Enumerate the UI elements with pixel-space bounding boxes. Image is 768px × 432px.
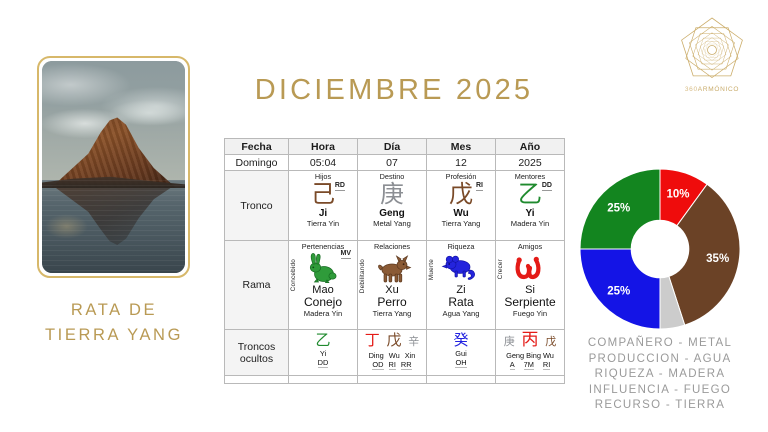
hidden-code: RI [389, 360, 396, 370]
photo-highlight [45, 214, 88, 239]
rama-cell-dia: Relaciones Debilitando [358, 241, 427, 330]
hidden-glyph: 乙 [315, 331, 330, 349]
logo-wordmark: 360ARMÓNICO [668, 86, 756, 93]
row-label-line2: ocultos [225, 353, 288, 365]
tronco-cell-dia: Destino 庚 Geng Metal Yang [358, 171, 427, 241]
rama-relation: Amigos [496, 243, 564, 251]
tronco-glyph: 乙 [518, 180, 542, 208]
tronco-element: Metal Yang [358, 219, 426, 228]
mountain-reflection-photo [42, 61, 185, 273]
rama-name-es: Rata [427, 296, 495, 309]
brand-logo: 360ARMÓNICO [668, 12, 756, 104]
col-header-hora: Hora [289, 139, 358, 155]
hidden-name: Wu [543, 351, 554, 360]
tronco-sup-code: DD [542, 182, 552, 191]
hidden-code: OH [455, 358, 466, 368]
troncos-ocultos-row: Troncos ocultos 乙 Yi DD [225, 330, 565, 376]
hidden-glyph: 庚 [504, 335, 515, 348]
hidden-stem-names: Gui [427, 349, 495, 358]
rama-element: Madera Yin [289, 309, 357, 318]
hidden-code: RR [401, 360, 412, 370]
row-label-troncos-ocultos: Troncos ocultos [225, 330, 289, 376]
rama-cell-ano: Amigos Crecer Si Serpiente [496, 241, 565, 330]
tronco-row: Tronco Hijos 己 RD Ji Tierra Yin Destino … [225, 171, 565, 241]
hidden-stem-glyphs: 丁 戊 辛 [358, 331, 426, 351]
hidden-name: Bing [526, 351, 541, 360]
hidden-code: RI [543, 360, 550, 370]
value-fecha: Domingo [225, 155, 289, 171]
rama-cell-hora: Pertenencias MV Concebido [289, 241, 358, 330]
legend-line: COMPAÑERO - METAL [556, 336, 764, 352]
tronco-cell-mes: Profesión 戊 RI Wu Tierra Yang [427, 171, 496, 241]
legend-line: RIQUEZA - MADERA [556, 367, 764, 383]
photo-caption-line2: TIERRA YANG [10, 323, 218, 348]
partial-cell [496, 376, 565, 384]
hidden-stem-names: Ding Wu Xin [358, 351, 426, 360]
legend-line: PRODUCCION - AGUA [556, 352, 764, 368]
page-title: DICIEMBRE 2025 [222, 74, 566, 107]
bazi-chart-table: Fecha Hora Día Mes Año Domingo 05:04 07 … [224, 138, 565, 384]
rama-element: Tierra Yang [358, 309, 426, 318]
hidden-stem-glyphs: 乙 [289, 331, 357, 349]
donut-label-tierra: 35% [706, 253, 729, 265]
table-header-row: Fecha Hora Día Mes Año [225, 139, 565, 155]
rama-relation: Riqueza [427, 243, 495, 251]
photo-frame [37, 56, 190, 278]
value-mes: 12 [427, 155, 496, 171]
hidden-glyph: 丙 [522, 330, 539, 350]
tronco-element: Tierra Yin [289, 219, 357, 228]
donut-label-agua: 25% [607, 285, 630, 297]
row-label-rama: Rama [225, 241, 289, 330]
row-label-tronco: Tronco [225, 171, 289, 241]
tronco-sup-code: RD [335, 182, 345, 191]
hidden-stem-glyphs: 癸 [427, 331, 495, 349]
col-header-dia: Día [358, 139, 427, 155]
logo-wordmark-prefix: 360 [685, 86, 698, 93]
tronco-pinyin: Yi [496, 208, 564, 219]
rama-name-es: Serpiente [496, 296, 564, 309]
col-header-fecha: Fecha [225, 139, 289, 155]
donut-label-fuego: 10% [667, 188, 690, 200]
hidden-name: Ding [369, 351, 384, 360]
dog-icon [358, 251, 426, 284]
hidden-code: 7M [524, 360, 534, 370]
hidden-code: OD [372, 360, 383, 370]
logo-wordmark-suffix: ARMÓNICO [698, 86, 739, 93]
rama-name-es: Conejo [289, 296, 357, 309]
hidden-stem-names: Geng Bing Wu [496, 351, 564, 360]
tronco-glyph: 己 [311, 180, 335, 208]
hidden-stem-codes: A 7M RI [496, 360, 564, 370]
hidden-glyph: 癸 [453, 331, 468, 349]
legend-line: INFLUENCIA - FUEGO [556, 383, 764, 399]
table-partial-row [225, 376, 565, 384]
hidden-glyph: 戊 [387, 331, 402, 349]
mandala-icon [668, 12, 756, 88]
tronco-element: Tierra Yang [427, 219, 495, 228]
hidden-stem-codes: OD RI RR [358, 360, 426, 370]
partial-cell [358, 376, 427, 384]
photo-caption-line1: RATA DE [10, 298, 218, 323]
elements-legend: COMPAÑERO - METAL PRODUCCION - AGUA RIQU… [556, 336, 764, 414]
legend-line: RECURSO - TIERRA [556, 398, 764, 414]
rat-icon [427, 251, 495, 284]
tronco-pinyin: Ji [289, 208, 357, 219]
rama-element: Fuego Yin [496, 309, 564, 318]
ocultos-cell-dia: 丁 戊 辛 Ding Wu Xin OD RI RR [358, 330, 427, 376]
donut-svg: 10%35%25%25% [576, 165, 744, 333]
hidden-glyph: 戊 [545, 335, 556, 348]
tronco-cell-ano: Mentores 乙 DD Yi Madera Yin [496, 171, 565, 241]
tronco-sup-code: RI [476, 182, 483, 191]
hidden-code: DD [318, 358, 329, 368]
ocultos-cell-ano: 庚 丙 戊 Geng Bing Wu A 7M RI [496, 330, 565, 376]
elements-donut-chart: 10%35%25%25% [576, 165, 744, 333]
hidden-glyph: 辛 [408, 335, 419, 348]
hidden-name: Gui [455, 349, 467, 358]
date-row: Domingo 05:04 07 12 2025 [225, 155, 565, 171]
hidden-name: Xin [405, 351, 416, 360]
value-dia: 07 [358, 155, 427, 171]
row-label-line1: Troncos [225, 341, 288, 353]
ocultos-cell-mes: 癸 Gui OH [427, 330, 496, 376]
tronco-glyph: 戊 [449, 180, 473, 208]
hidden-stem-glyphs: 庚 丙 戊 [496, 331, 564, 351]
hidden-name: Wu [389, 351, 400, 360]
tronco-pinyin: Wu [427, 208, 495, 219]
hidden-stem-names: Yi [289, 349, 357, 358]
tronco-glyph: 庚 [380, 180, 404, 208]
partial-cell [225, 376, 289, 384]
tronco-element: Madera Yin [496, 219, 564, 228]
hidden-name: Yi [320, 349, 326, 358]
hidden-stem-codes: OH [427, 358, 495, 368]
rabbit-icon [289, 251, 357, 284]
hidden-stem-codes: DD [289, 358, 357, 368]
col-header-mes: Mes [427, 139, 496, 155]
rama-cell-mes: Riqueza Muerte [427, 241, 496, 330]
photo-caption: RATA DE TIERRA YANG [10, 298, 218, 348]
snake-icon [496, 251, 564, 284]
ocultos-cell-hora: 乙 Yi DD [289, 330, 358, 376]
col-header-ano: Año [496, 139, 565, 155]
hidden-glyph: 丁 [365, 331, 380, 349]
value-hora: 05:04 [289, 155, 358, 171]
hidden-code: A [510, 360, 515, 370]
rama-relation: Relaciones [358, 243, 426, 251]
partial-cell [427, 376, 496, 384]
donut-label-madera: 25% [607, 203, 630, 215]
value-ano: 2025 [496, 155, 565, 171]
hidden-name: Geng [506, 351, 524, 360]
tronco-pinyin: Geng [358, 208, 426, 219]
tronco-cell-hora: Hijos 己 RD Ji Tierra Yin [289, 171, 358, 241]
partial-cell [289, 376, 358, 384]
rama-element: Agua Yang [427, 309, 495, 318]
rama-row: Rama Pertenencias MV Concebido [225, 241, 565, 330]
rama-name-es: Perro [358, 296, 426, 309]
